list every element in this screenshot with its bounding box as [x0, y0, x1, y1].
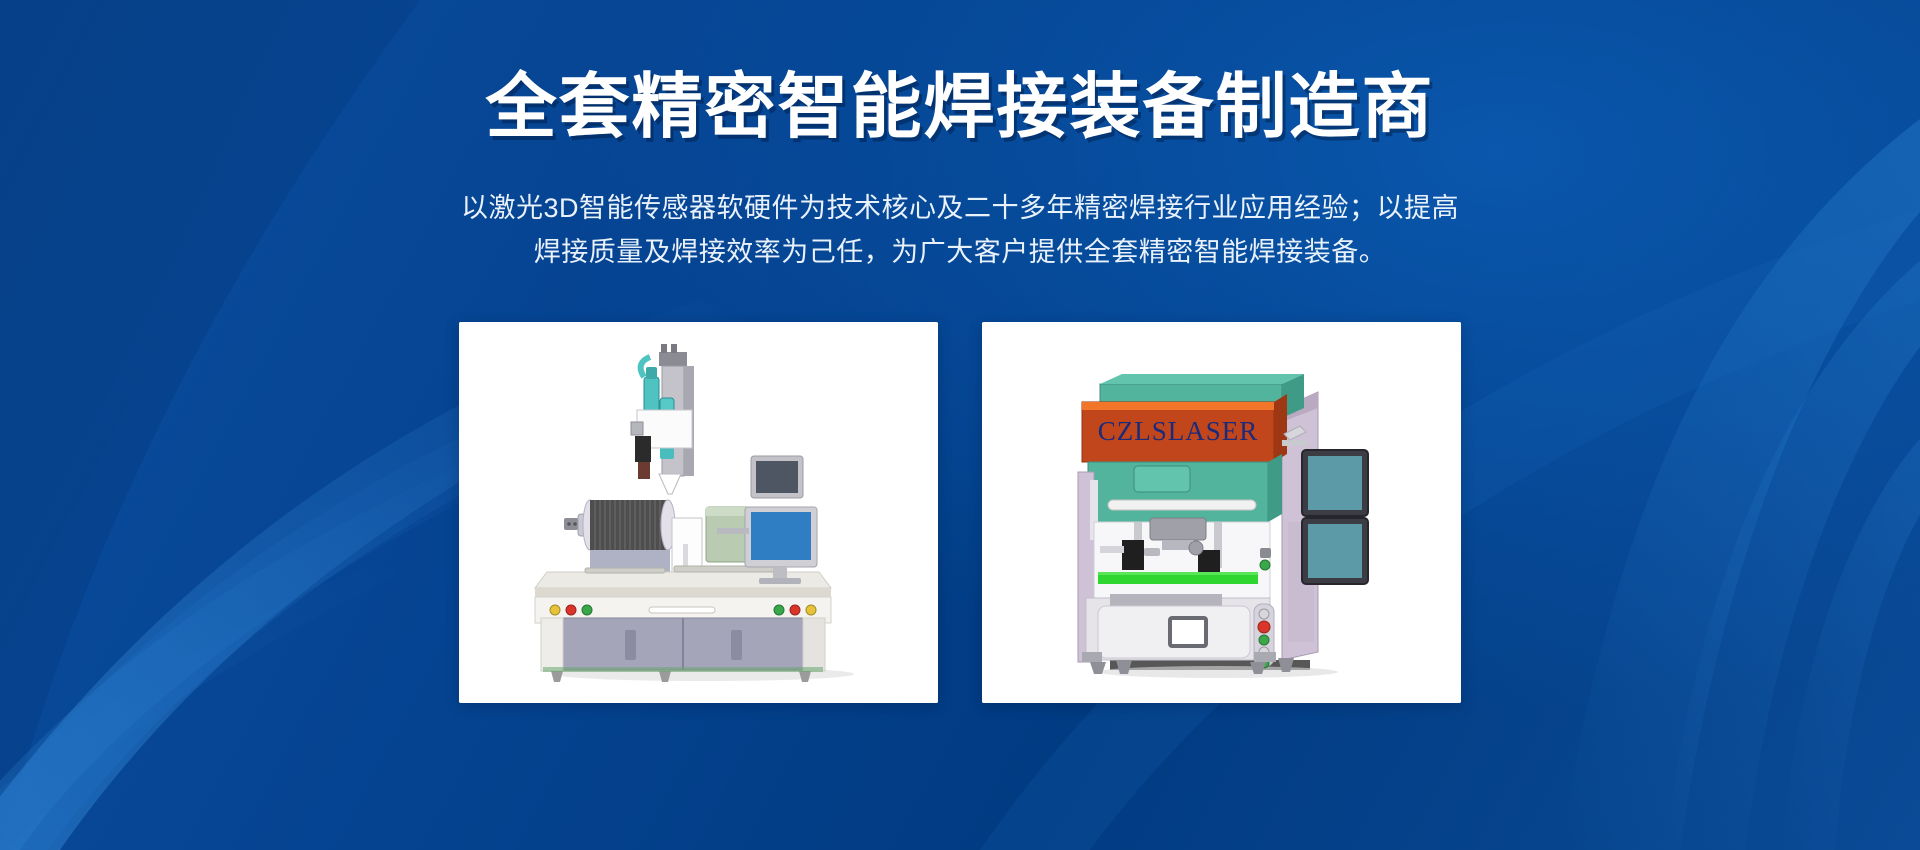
- product-image-left[interactable]: [459, 322, 938, 703]
- banner-subcopy: 以激光3D智能传感器软硬件为技术核心及二十多年精密焊接行业应用经验；以提高 焊接…: [405, 187, 1515, 274]
- subcopy-line-1: 以激光3D智能传感器软硬件为技术核心及二十多年精密焊接行业应用经验；以提高: [405, 187, 1515, 231]
- product-gallery: CZLSLASER: [459, 322, 1461, 703]
- page-title: 全套精密智能焊接装备制造商: [485, 72, 1434, 143]
- promo-banner: 全套精密智能焊接装备制造商 以激光3D智能传感器软硬件为技术核心及二十多年精密焊…: [0, 0, 1920, 850]
- subcopy-line-2: 焊接质量及焊接效率为己任，为广大客户提供全套精密智能焊接装备。: [405, 231, 1515, 275]
- brand-label: CZLSLASER: [1098, 416, 1259, 446]
- banner-content: 全套精密智能焊接装备制造商 以激光3D智能传感器软硬件为技术核心及二十多年精密焊…: [0, 0, 1920, 850]
- product-image-right[interactable]: CZLSLASER: [982, 322, 1461, 703]
